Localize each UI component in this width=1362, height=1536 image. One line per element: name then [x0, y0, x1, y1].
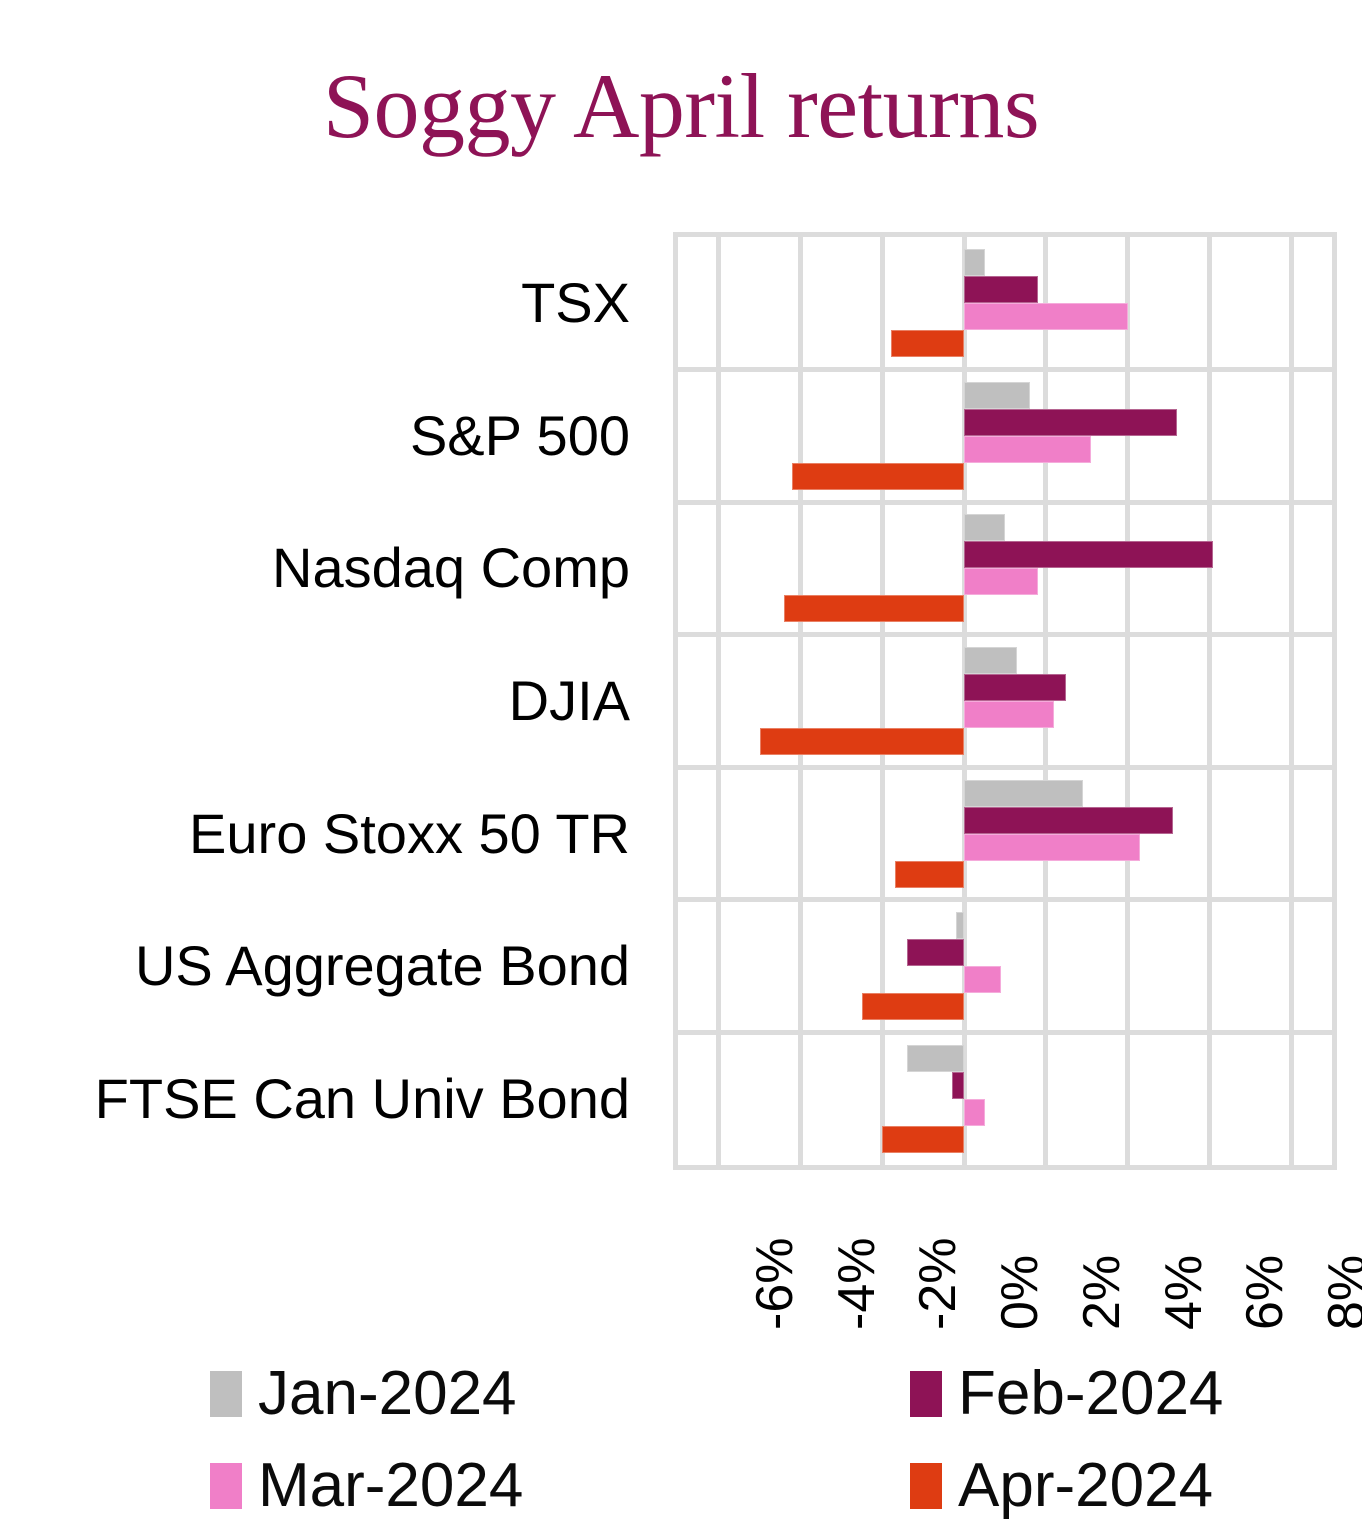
bar — [964, 701, 1054, 728]
x-tick-label: -6% — [747, 1180, 803, 1330]
category-label: DJIA — [0, 672, 630, 730]
bar — [964, 647, 1017, 674]
legend-label: Mar-2024 — [258, 1454, 523, 1518]
category-label: TSX — [0, 274, 630, 332]
bar — [862, 993, 964, 1020]
legend-swatch-icon — [210, 1463, 242, 1509]
x-tick-label: 2% — [1074, 1180, 1130, 1330]
y-gridline — [678, 367, 1332, 372]
bar — [964, 834, 1140, 861]
plot-area — [673, 232, 1337, 1170]
legend-label: Feb-2024 — [958, 1362, 1223, 1426]
bar — [891, 330, 965, 357]
y-gridline — [678, 500, 1332, 505]
chart-plot-wrapper: TSXS&P 500Nasdaq CompDJIAEuro Stoxx 50 T… — [0, 232, 1362, 1172]
x-axis-tick-labels: -6%-4%-2%0%2%4%6%8% — [673, 1180, 1337, 1320]
legend-item[interactable]: Apr-2024 — [910, 1450, 1213, 1522]
chart-legend: Jan-2024Feb-2024Mar-2024Apr-2024 — [210, 1358, 1280, 1528]
bar — [964, 568, 1038, 595]
bar — [952, 1072, 964, 1099]
legend-item[interactable]: Jan-2024 — [210, 1358, 517, 1430]
legend-swatch-icon — [910, 1371, 942, 1417]
bar — [964, 674, 1066, 701]
x-tick-label: -4% — [829, 1180, 885, 1330]
y-gridline — [678, 765, 1332, 770]
bar — [792, 463, 964, 490]
bar — [964, 409, 1177, 436]
bar — [882, 1126, 964, 1153]
legend-swatch-icon — [910, 1463, 942, 1509]
bar — [964, 780, 1083, 807]
y-gridline — [678, 1030, 1332, 1035]
bar — [760, 728, 964, 755]
x-gridline — [716, 237, 721, 1165]
bar — [907, 939, 964, 966]
x-tick-label: 4% — [1156, 1180, 1212, 1330]
category-label: S&P 500 — [0, 407, 630, 465]
x-gridline — [1289, 237, 1294, 1165]
legend-label: Jan-2024 — [258, 1362, 517, 1426]
bar — [964, 303, 1128, 330]
legend-label: Apr-2024 — [958, 1454, 1213, 1518]
bar — [964, 1099, 984, 1126]
bar — [784, 595, 964, 622]
y-gridline — [678, 897, 1332, 902]
category-label: US Aggregate Bond — [0, 937, 630, 995]
bar — [964, 514, 1005, 541]
legend-item[interactable]: Mar-2024 — [210, 1450, 523, 1522]
legend-item[interactable]: Feb-2024 — [910, 1358, 1223, 1430]
y-gridline — [678, 632, 1332, 637]
category-label: FTSE Can Univ Bond — [0, 1070, 630, 1128]
x-gridline — [1125, 237, 1130, 1165]
x-tick-label: 0% — [992, 1180, 1048, 1330]
bar — [964, 276, 1038, 303]
bar — [895, 861, 964, 888]
bar — [964, 541, 1213, 568]
x-tick-label: 8% — [1319, 1180, 1362, 1330]
bar — [964, 249, 984, 276]
bar — [964, 436, 1091, 463]
category-axis-labels: TSXS&P 500Nasdaq CompDJIAEuro Stoxx 50 T… — [0, 232, 640, 1170]
x-gridline — [880, 237, 885, 1165]
category-label: Nasdaq Comp — [0, 539, 630, 597]
bar — [964, 382, 1029, 409]
bar — [964, 966, 1001, 993]
x-tick-label: -2% — [910, 1180, 966, 1330]
plot-inner — [678, 237, 1332, 1165]
bar — [964, 807, 1172, 834]
legend-swatch-icon — [210, 1371, 242, 1417]
x-tick-label: 6% — [1237, 1180, 1293, 1330]
x-gridline — [798, 237, 803, 1165]
bar — [956, 912, 964, 939]
bar — [907, 1045, 964, 1072]
page-title: Soggy April returns — [0, 56, 1362, 156]
category-label: Euro Stoxx 50 TR — [0, 805, 630, 863]
x-gridline — [1207, 237, 1212, 1165]
